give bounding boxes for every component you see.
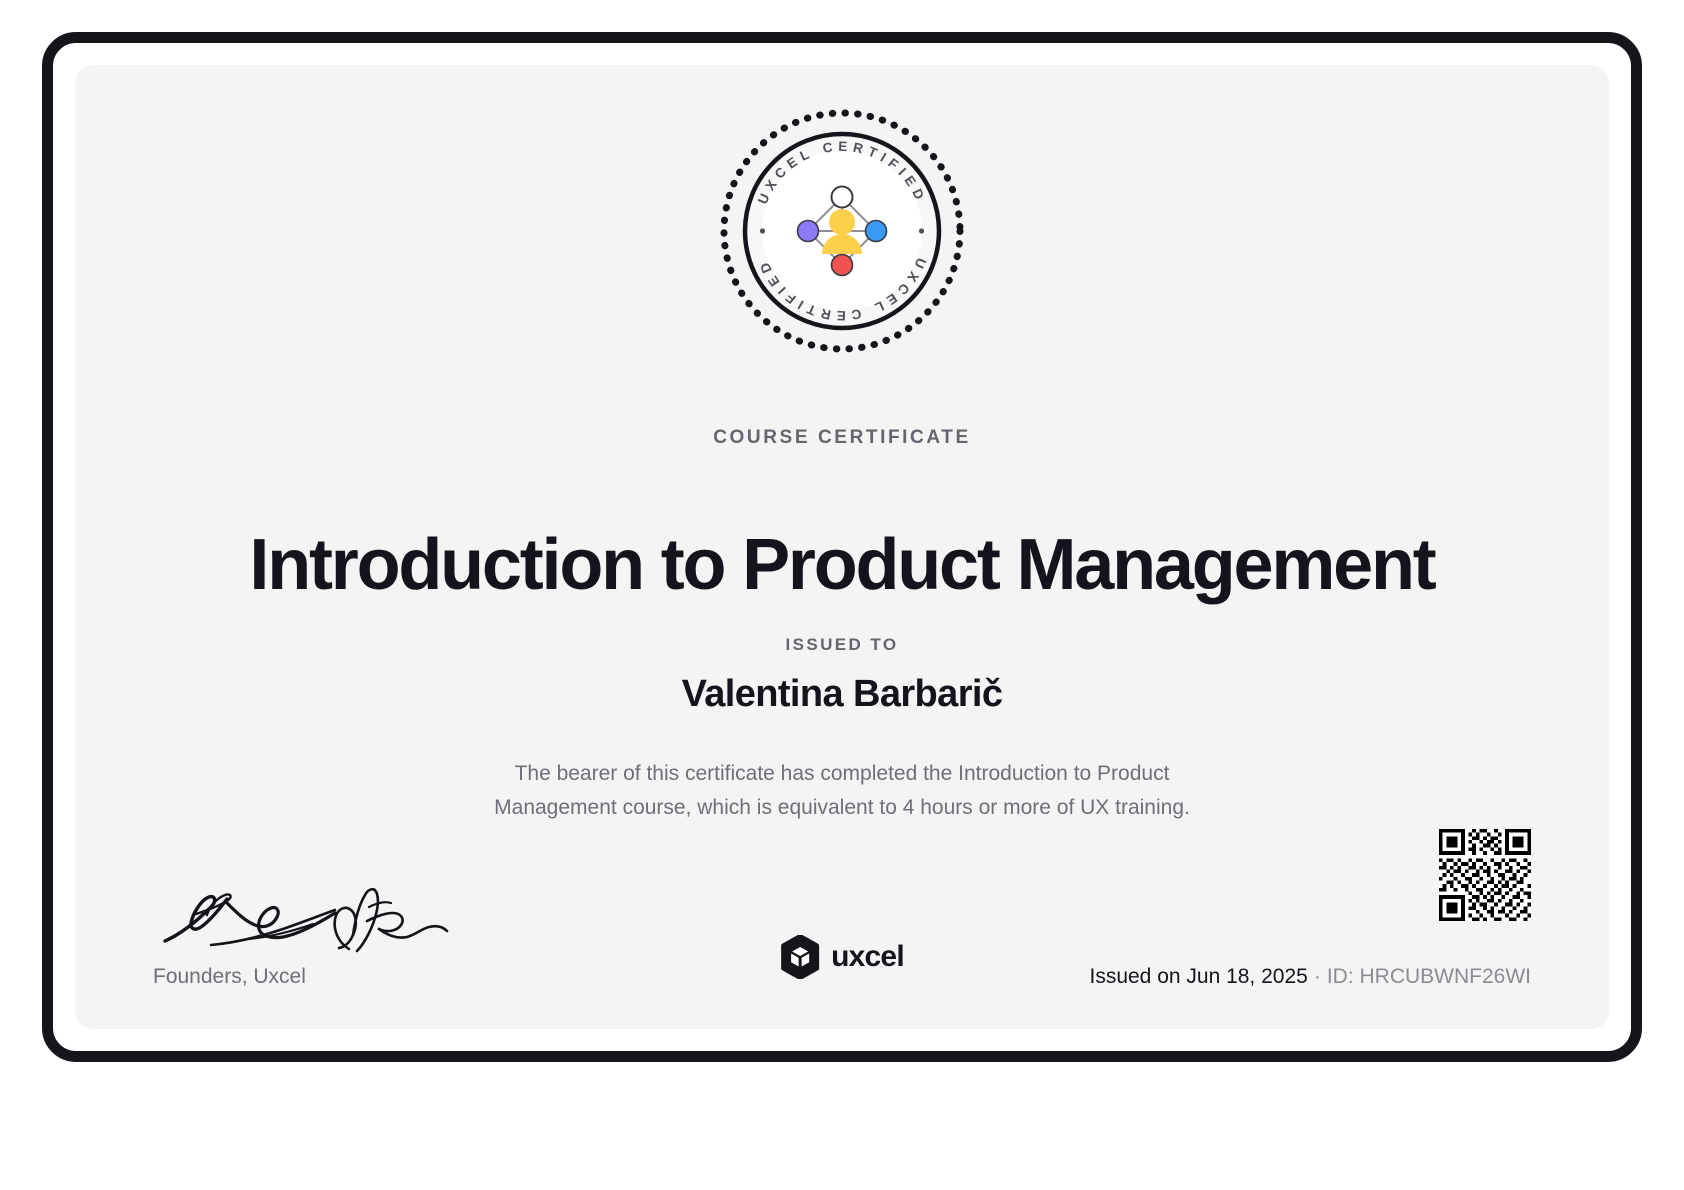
seal-bullet-right [919,228,924,233]
meta-separator: · [1308,965,1327,988]
seal-node-bottom [832,255,853,276]
seal-bullet-left [760,228,765,233]
description-line-1: The bearer of this certificate has compl… [515,762,1170,785]
signature-block: Founders, Uxcel [153,863,483,989]
seal-node-left [798,221,819,242]
course-title: Introduction to Product Management [75,528,1609,604]
uxcel-brand-logo: uxcel [780,935,904,979]
certificate-id: ID: HRCUBWNF26WI [1327,965,1531,988]
certificate-description: The bearer of this certificate has compl… [442,757,1242,825]
description-line-2: Management course, which is equivalent t… [494,796,1190,819]
certificate-meta: Issued on Jun 18, 2025·ID: HRCUBWNF26WI [1089,965,1531,989]
seal-node-right [866,221,887,242]
issued-to-label: ISSUED TO [75,635,1609,655]
signature-caption: Founders, Uxcel [153,965,483,989]
certificate-frame: UXCEL CERTIFIED UXCEL CERTIFIED [42,32,1642,1062]
certification-seal: UXCEL CERTIFIED UXCEL CERTIFIED [716,105,968,357]
certificate-panel: UXCEL CERTIFIED UXCEL CERTIFIED [75,65,1609,1029]
uxcel-wordmark: uxcel [831,940,904,974]
recipient-name: Valentina Barbarič [75,673,1609,716]
verification-qr-code[interactable] [1439,829,1531,921]
founders-signature-image [153,863,453,955]
seal-node-top [832,187,853,208]
certificate-type-label: COURSE CERTIFICATE [75,427,1609,449]
issued-on-date: Issued on Jun 18, 2025 [1089,965,1307,988]
uxcel-cube-logo-icon [780,935,820,979]
